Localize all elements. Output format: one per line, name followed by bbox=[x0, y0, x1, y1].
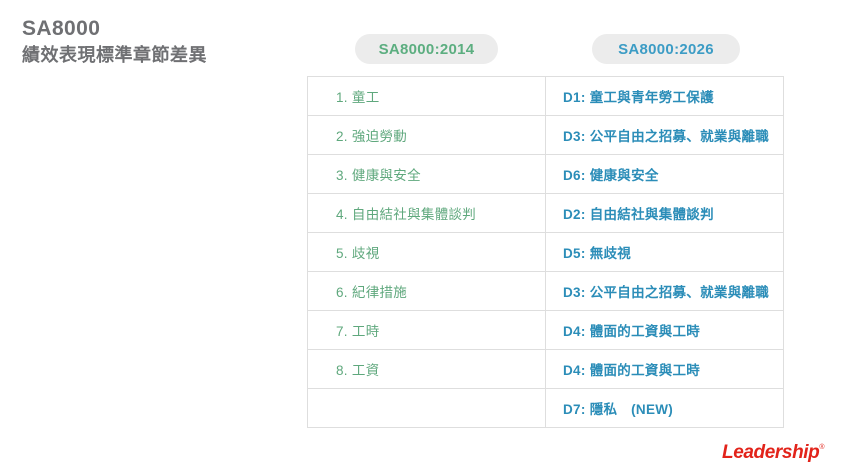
cell-2014-clause: 5. 歧視 bbox=[308, 233, 546, 272]
table-row: 8. 工資 D4: 體面的工資與工時 bbox=[308, 350, 784, 389]
badge-sa8000-2014: SA8000:2014 bbox=[355, 34, 498, 64]
cell-2014-clause: 6. 紀律措施 bbox=[308, 272, 546, 311]
title-sub-text: 績效表現標準章節差異 bbox=[22, 42, 302, 68]
cell-2014-clause: 2. 強迫勞動 bbox=[308, 116, 546, 155]
page-title: SA8000 績效表現標準章節差異 bbox=[22, 16, 302, 68]
table-body: 1. 童工 D1: 童工與青年勞工保護 2. 強迫勞動 D3: 公平自由之招募、… bbox=[308, 77, 784, 428]
cell-2026-clause: D3: 公平自由之招募、就業與離職 bbox=[546, 116, 784, 155]
cell-2026-clause: D1: 童工與青年勞工保護 bbox=[546, 77, 784, 116]
cell-2026-clause: D3: 公平自由之招募、就業與離職 bbox=[546, 272, 784, 311]
table-row: 3. 健康與安全 D6: 健康與安全 bbox=[308, 155, 784, 194]
cell-2026-clause: D4: 體面的工資與工時 bbox=[546, 350, 784, 389]
cell-2026-clause-new: D7: 隱私 (NEW) bbox=[546, 389, 784, 428]
cell-2014-clause-empty bbox=[308, 389, 546, 428]
table-row: 6. 紀律措施 D3: 公平自由之招募、就業與離職 bbox=[308, 272, 784, 311]
leadership-logo: Leadership® bbox=[722, 442, 825, 464]
leadership-logo-text: Leadership bbox=[722, 442, 819, 463]
cell-2026-clause: D5: 無歧視 bbox=[546, 233, 784, 272]
badge-sa8000-2026: SA8000:2026 bbox=[592, 34, 740, 64]
cell-2014-clause: 3. 健康與安全 bbox=[308, 155, 546, 194]
table-row: 5. 歧視 D5: 無歧視 bbox=[308, 233, 784, 272]
cell-2026-clause: D4: 體面的工資與工時 bbox=[546, 311, 784, 350]
badge-sa8000-2014-label: SA8000:2014 bbox=[379, 41, 475, 58]
standard-comparison-table: 1. 童工 D1: 童工與青年勞工保護 2. 強迫勞動 D3: 公平自由之招募、… bbox=[307, 76, 784, 428]
table-row: 2. 強迫勞動 D3: 公平自由之招募、就業與離職 bbox=[308, 116, 784, 155]
cell-2014-clause: 4. 自由結社與集體談判 bbox=[308, 194, 546, 233]
badge-sa8000-2026-label: SA8000:2026 bbox=[618, 41, 714, 58]
cell-2026-clause: D6: 健康與安全 bbox=[546, 155, 784, 194]
table-row: 4. 自由結社與集體談判 D2: 自由結社與集體談判 bbox=[308, 194, 784, 233]
table-row: 7. 工時 D4: 體面的工資與工時 bbox=[308, 311, 784, 350]
table-row: D7: 隱私 (NEW) bbox=[308, 389, 784, 428]
cell-2014-clause: 7. 工時 bbox=[308, 311, 546, 350]
title-main-text: SA8000 bbox=[22, 16, 302, 42]
cell-2014-clause: 1. 童工 bbox=[308, 77, 546, 116]
cell-2014-clause: 8. 工資 bbox=[308, 350, 546, 389]
trademark-symbol: ® bbox=[819, 444, 824, 451]
table-row: 1. 童工 D1: 童工與青年勞工保護 bbox=[308, 77, 784, 116]
cell-2026-clause: D2: 自由結社與集體談判 bbox=[546, 194, 784, 233]
